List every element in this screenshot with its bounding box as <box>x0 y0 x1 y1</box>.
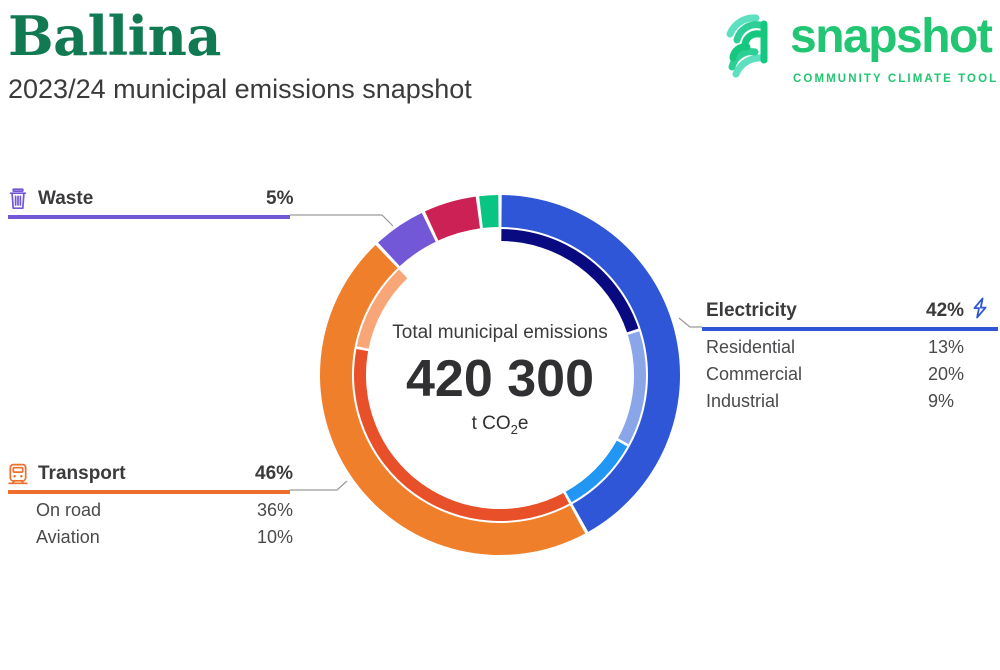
snapshot-logo[interactable]: snapshot COMMUNITY CLIMATE TOOL <box>698 6 998 90</box>
sub-item[interactable]: On road 36% <box>0 497 400 524</box>
unit-suffix: e <box>518 413 529 434</box>
page-subtitle: 2023/24 municipal emissions snapshot <box>8 72 472 106</box>
sub-item-label: Commercial <box>706 361 802 387</box>
callout-waste-rule <box>8 215 290 219</box>
donut-slice-agriculture[interactable] <box>425 197 480 241</box>
callout-electricity-subitems: Residential 13% Commercial 20% Industria… <box>700 334 1000 415</box>
callout-waste-head: Waste 5% <box>0 186 400 214</box>
callout-electricity-head: Electricity 42% <box>700 298 1000 326</box>
donut-slice-land-use[interactable] <box>479 195 498 228</box>
callout-electricity[interactable]: Electricity 42% Residential 13% Commerci… <box>700 298 1000 326</box>
unit-subscript: 2 <box>511 422 518 437</box>
sub-item[interactable]: Residential 13% <box>700 334 1000 361</box>
lightning-bolt-icon <box>968 296 992 320</box>
donut-center-label: Total municipal emissions 420 300 t CO2e <box>310 320 690 443</box>
sub-item-value: 9% <box>928 388 954 414</box>
sub-item-value: 20% <box>928 361 964 387</box>
center-caption: Total municipal emissions <box>310 320 690 346</box>
sub-item-value: 10% <box>257 524 293 550</box>
sub-item[interactable]: Aviation 10% <box>0 524 400 551</box>
callout-waste-value: 5% <box>266 186 293 212</box>
sub-item-label: Residential <box>706 334 795 360</box>
page-title: Ballina <box>8 4 221 68</box>
callout-transport-rule <box>8 490 290 494</box>
callout-waste[interactable]: Waste 5% <box>0 186 400 214</box>
callout-transport-value: 46% <box>255 461 293 487</box>
callout-electricity-rule <box>702 327 998 331</box>
logo-tagline: COMMUNITY CLIMATE TOOL <box>793 72 998 86</box>
sub-item[interactable]: Commercial 20% <box>700 361 1000 388</box>
sub-item-label: Aviation <box>36 524 100 550</box>
callout-transport-label: Transport <box>38 461 126 487</box>
train-icon <box>6 462 30 486</box>
page-header: Ballina 2023/24 municipal emissions snap… <box>0 0 1000 120</box>
snapshot-spiral-icon <box>712 8 780 84</box>
callout-transport[interactable]: Transport 46% On road 36% Aviation 10% <box>0 461 400 489</box>
sub-item-label: Industrial <box>706 388 779 414</box>
trash-bin-icon <box>6 187 30 211</box>
logo-wordmark: snapshot <box>790 8 991 66</box>
callout-waste-label: Waste <box>38 186 93 212</box>
unit-prefix: t CO <box>472 413 511 434</box>
callout-electricity-value: 42% <box>926 298 964 324</box>
sub-item[interactable]: Industrial 9% <box>700 388 1000 415</box>
sub-item-label: On road <box>36 497 101 523</box>
center-unit: t CO2e <box>310 411 690 443</box>
sub-item-value: 13% <box>928 334 964 360</box>
callout-electricity-label: Electricity <box>706 298 797 324</box>
callout-transport-head: Transport 46% <box>0 461 400 489</box>
sub-item-value: 36% <box>257 497 293 523</box>
callout-transport-subitems: On road 36% Aviation 10% <box>0 497 400 551</box>
center-total-value: 420 300 <box>310 348 690 410</box>
